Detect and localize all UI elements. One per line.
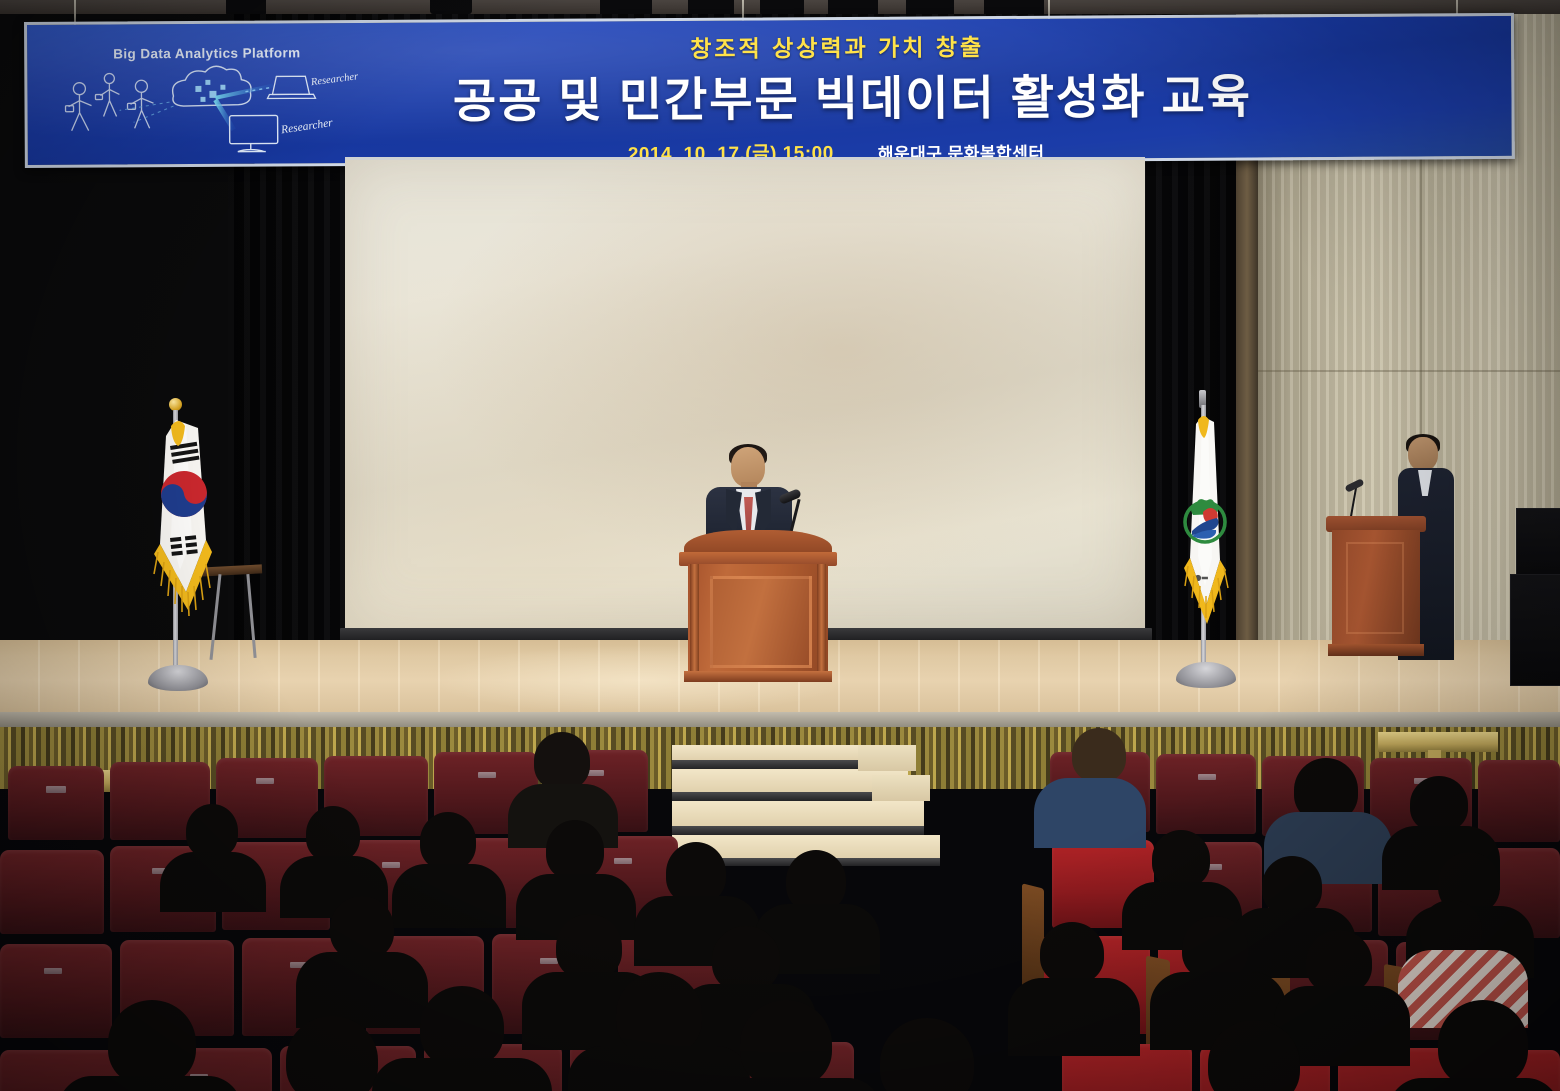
audience-person-head: [616, 972, 702, 1056]
side-podium-body: [1332, 530, 1420, 646]
podium-body: [688, 564, 828, 676]
flag-base: [148, 665, 208, 691]
assistant-head: [1408, 437, 1438, 471]
audience-person-head: [420, 986, 504, 1068]
researcher-label-2: Researcher: [279, 117, 334, 137]
audience-seat: [0, 944, 112, 1038]
loudspeaker-cabinet: [1510, 574, 1560, 686]
audience-person-head: [1040, 922, 1104, 984]
side-podium-base: [1328, 644, 1424, 656]
south-korea-flag: [140, 420, 232, 650]
wall-bench: [1378, 732, 1498, 752]
seat-number-tag: [46, 786, 66, 793]
seat-number-tag: [256, 778, 274, 784]
audience-person-head: [1182, 916, 1248, 980]
event-banner: Researcher Researcher Big Data Analytics…: [24, 13, 1515, 168]
audience-person-shoulders: [1008, 978, 1140, 1056]
audience-person-shoulders: [392, 864, 506, 928]
audience-person-shoulders: [296, 952, 428, 1028]
seat-number-tag: [44, 968, 62, 974]
audience-person-shoulders: [1034, 778, 1146, 848]
flag-base: [1176, 662, 1236, 688]
audience-person-head: [1072, 728, 1126, 782]
audience-person-head: [740, 1000, 832, 1088]
audience-person-shoulders: [372, 1058, 552, 1091]
audience-person-head: [306, 806, 360, 862]
audience-person-head: [1262, 856, 1322, 916]
audience-person-head: [534, 732, 590, 790]
audience-person-head: [712, 926, 780, 992]
haeundae-gu-flag: [1172, 410, 1244, 640]
podium-column-right: [817, 564, 826, 676]
audience-person-shoulders: [58, 1076, 242, 1091]
audience-person-shoulders: [1388, 1078, 1560, 1091]
auditorium-photo: Researcher Researcher Big Data Analytics…: [0, 0, 1560, 1091]
audience-person-head: [1306, 930, 1372, 994]
seat-number-tag: [478, 772, 496, 778]
audience-person-head: [546, 820, 604, 880]
audience-person-head: [556, 914, 622, 980]
audience-seat: [1478, 760, 1560, 842]
audience-person-head: [186, 804, 238, 858]
side-podium-panel: [1346, 542, 1404, 634]
seat-number-tag: [614, 858, 632, 864]
big-data-platform-graphic-icon: Researcher Researcher: [57, 63, 368, 157]
audience-person-head: [666, 842, 726, 904]
audience-person-shoulders: [160, 852, 266, 912]
seat-number-tag: [382, 862, 400, 868]
audience-person-head: [786, 850, 846, 912]
audience-seat: [8, 766, 104, 840]
stage-light-icon: [430, 0, 472, 14]
banner-title: 공공 및 민간부문 빅데이터 활성화 교육: [347, 57, 1357, 132]
podium-recessed-panel: [710, 576, 812, 668]
audience-seat: [0, 850, 104, 934]
audience-person-head: [880, 1018, 974, 1091]
wall-seam: [1245, 370, 1560, 372]
podium-column-left: [690, 564, 699, 676]
audience-person-head: [1438, 1000, 1528, 1088]
banner-platform-label: Big Data Analytics Platform: [113, 45, 300, 61]
audience-area: [0, 700, 1560, 1091]
speaker-head: [731, 447, 765, 487]
main-podium: [684, 530, 832, 682]
loudspeaker-cabinet: [1516, 508, 1560, 584]
seat-number-tag: [1198, 774, 1216, 780]
audience-person-head: [108, 1000, 196, 1086]
audience-person-shoulders: [690, 1078, 882, 1091]
audience-person-head: [420, 812, 476, 870]
podium-base: [684, 671, 832, 682]
audience-person-head: [330, 896, 394, 960]
audience-person-head: [1410, 776, 1468, 832]
seat-number-tag: [540, 958, 558, 964]
audience-person-head: [1152, 830, 1210, 888]
side-podium: [1330, 516, 1422, 658]
audience-seat: [1156, 754, 1256, 834]
